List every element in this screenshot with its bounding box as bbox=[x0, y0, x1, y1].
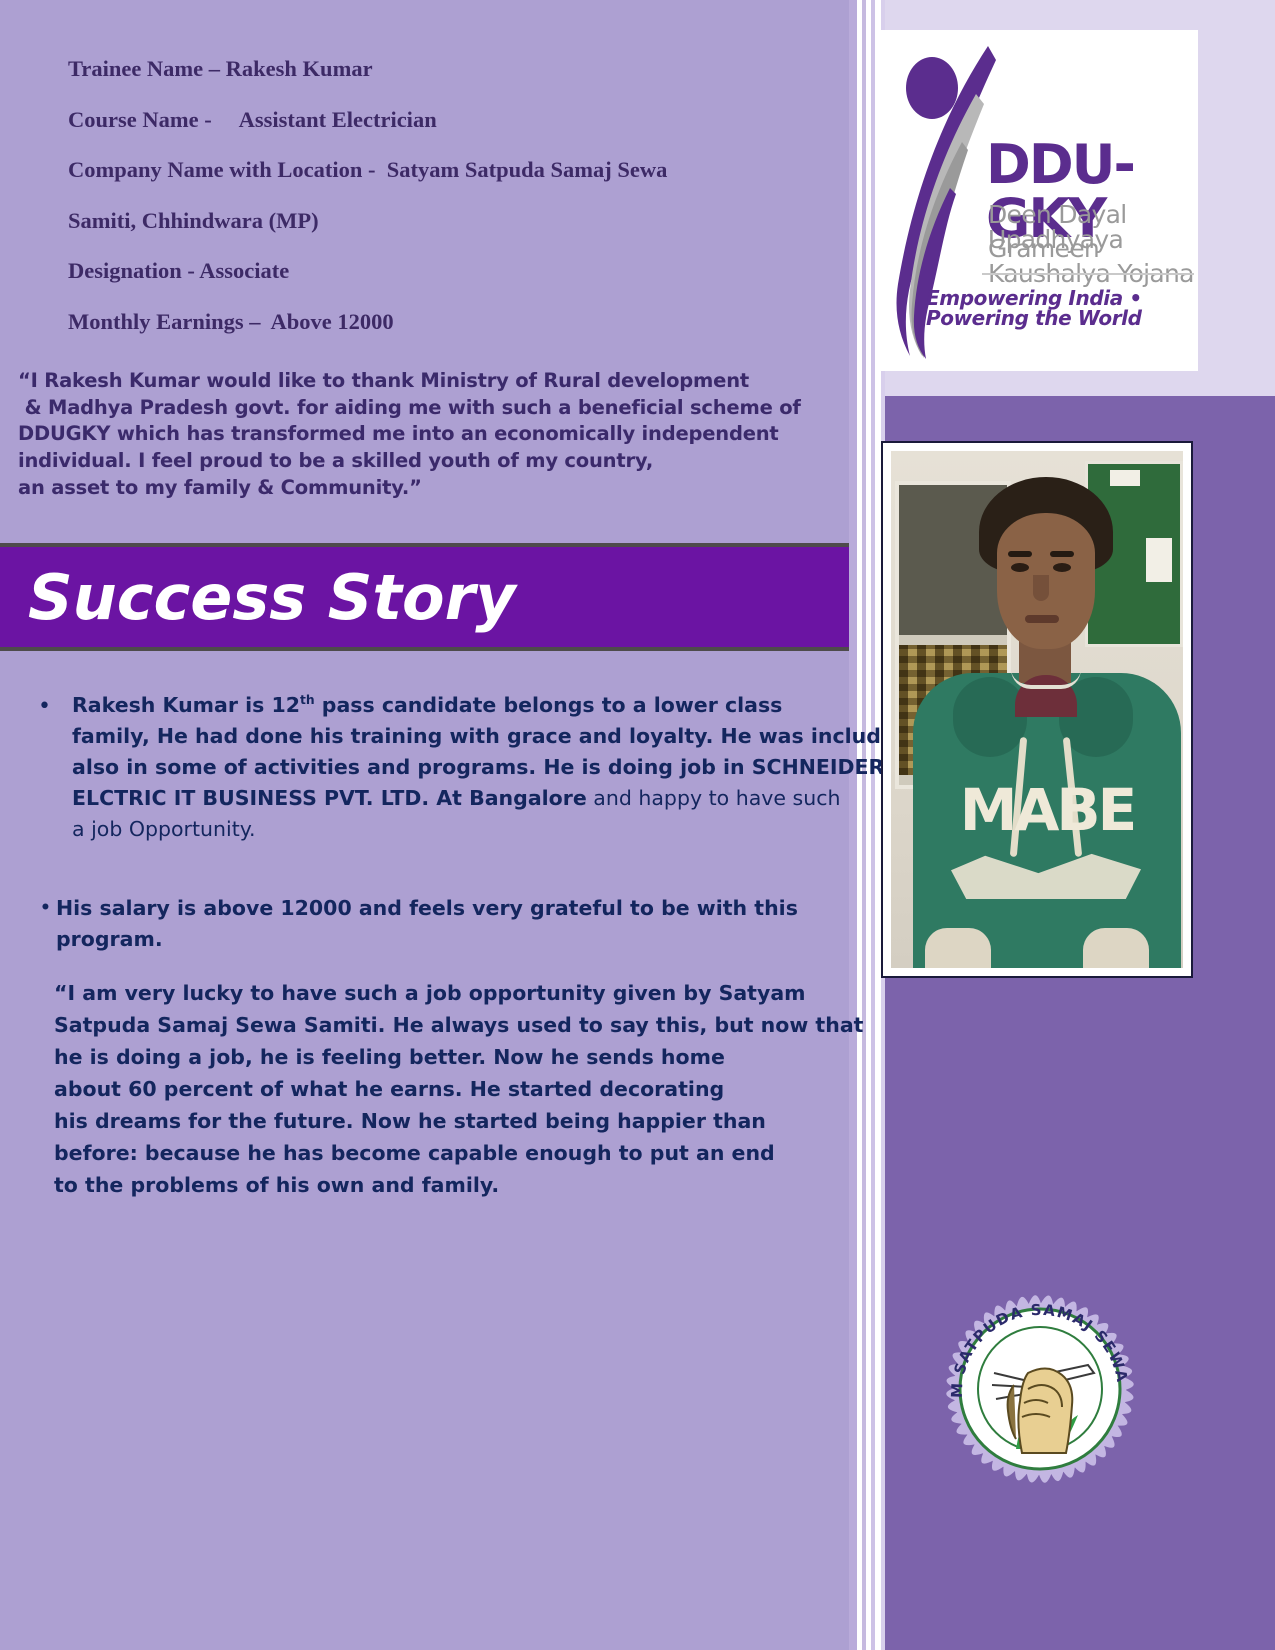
success-story-page: Trainee Name – Rakesh Kumar Course Name … bbox=[0, 0, 1275, 1650]
photo-notice-paper-2 bbox=[1110, 470, 1140, 486]
story-body: • Rakesh Kumar is 12th pass candidate be… bbox=[0, 690, 849, 955]
thank-quote-line-4: individual. I feel proud to be a skilled… bbox=[18, 448, 838, 475]
photo-hand-right bbox=[1083, 928, 1149, 968]
final-quote-line-5: his dreams for the future. Now he starte… bbox=[54, 1105, 854, 1137]
thank-quote-line-2: & Madhya Pradesh govt. for aiding me wit… bbox=[18, 395, 838, 422]
thank-you-quote: “I Rakesh Kumar would like to thank Mini… bbox=[18, 368, 838, 502]
ddu-gky-logo: DDU-GKY Deen Dayal Upadhyaya Grameen Kau… bbox=[878, 30, 1198, 371]
samiti-seal-logo: SATYAM SATPUDA SAMAJ SEWA SAMITI bbox=[932, 1281, 1148, 1497]
employer-name: ELCTRIC IT BUSINESS PVT. LTD. At Bangalo… bbox=[72, 786, 587, 810]
thank-quote-line-3: DDUGKY which has transformed me into an … bbox=[18, 421, 838, 448]
thank-quote-line-1: “I Rakesh Kumar would like to thank Mini… bbox=[18, 368, 838, 395]
photo-hood-left bbox=[953, 677, 1027, 757]
photo-hand-left bbox=[925, 928, 991, 968]
divider-stripe-1 bbox=[849, 0, 857, 1650]
samiti-seal-icon: SATYAM SATPUDA SAMAJ SEWA SAMITI bbox=[932, 1281, 1148, 1497]
photo-nose bbox=[1033, 575, 1049, 601]
story-bullet-1: • Rakesh Kumar is 12th pass candidate be… bbox=[0, 690, 849, 845]
final-quote-line-6: before: because he has become capable en… bbox=[54, 1137, 854, 1169]
bullet1-line-3: also in some of activities and programs.… bbox=[72, 752, 849, 783]
bullet1-line-4: ELCTRIC IT BUSINESS PVT. LTD. At Bangalo… bbox=[72, 783, 849, 814]
detail-designation: Designation - Associate bbox=[68, 260, 838, 283]
trainee-photo: MABE bbox=[891, 451, 1183, 968]
ordinal-suffix: th bbox=[300, 693, 315, 707]
detail-trainee-name: Trainee Name – Rakesh Kumar bbox=[68, 58, 838, 81]
thank-quote-line-5: an asset to my family & Community.” bbox=[18, 475, 838, 502]
ddu-gky-subtitle-line-2: Grameen Kaushalya Yojana bbox=[988, 236, 1198, 286]
photo-mouth bbox=[1025, 615, 1059, 623]
final-quote-line-1: “I am very lucky to have such a job oppo… bbox=[54, 977, 854, 1009]
final-quote-line-2: Satpuda Samaj Sewa Samiti. He always use… bbox=[54, 1009, 854, 1041]
bullet1-line-1: Rakesh Kumar is 12th pass candidate belo… bbox=[72, 690, 849, 721]
banner-title: Success Story bbox=[28, 565, 516, 630]
story-bullet-2: • His salary is above 12000 and feels ve… bbox=[0, 893, 849, 955]
bullet-marker-icon: • bbox=[38, 691, 51, 722]
photo-notice-paper bbox=[1146, 538, 1172, 582]
trainee-photo-frame: MABE bbox=[881, 441, 1193, 978]
bullet2-line-1: His salary is above 12000 and feels very… bbox=[56, 893, 849, 924]
success-story-banner: Success Story bbox=[0, 543, 849, 651]
final-quote-line-4: about 60 percent of what he earns. He st… bbox=[54, 1073, 854, 1105]
bullet1-line-2: family, He had done his training with gr… bbox=[72, 721, 849, 752]
bullet-marker-icon-2: • bbox=[40, 893, 51, 924]
bullet1-line-5: a job Opportunity. bbox=[72, 814, 849, 845]
photo-hoodie-print-text: MABE bbox=[937, 781, 1157, 839]
photo-eyebrow-left bbox=[1008, 551, 1032, 557]
photo-eye-left bbox=[1011, 563, 1029, 572]
ddu-gky-logo-card: DDU-GKY Deen Dayal Upadhyaya Grameen Kau… bbox=[878, 30, 1198, 371]
trainee-details: Trainee Name – Rakesh Kumar Course Name … bbox=[68, 58, 838, 361]
final-testimonial-quote: “I am very lucky to have such a job oppo… bbox=[54, 977, 854, 1201]
detail-monthly-earnings: Monthly Earnings – Above 12000 bbox=[68, 311, 838, 334]
photo-eye-right bbox=[1053, 563, 1071, 572]
ddu-gky-divider-rule bbox=[982, 273, 1194, 275]
final-quote-line-3: he is doing a job, he is feeling better.… bbox=[54, 1041, 854, 1073]
photo-eyebrow-right bbox=[1050, 551, 1074, 557]
photo-neck-chain bbox=[1011, 669, 1081, 689]
bullet2-line-2: program. bbox=[56, 924, 849, 955]
final-quote-line-7: to the problems of his own and family. bbox=[54, 1169, 854, 1201]
detail-course-name: Course Name - Assistant Electrician bbox=[68, 109, 838, 132]
detail-company-name: Company Name with Location - Satyam Satp… bbox=[68, 159, 838, 182]
ddu-gky-tagline: Empowering India • Powering the World bbox=[926, 288, 1198, 328]
detail-company-location: Samiti, Chhindwara (MP) bbox=[68, 210, 838, 233]
